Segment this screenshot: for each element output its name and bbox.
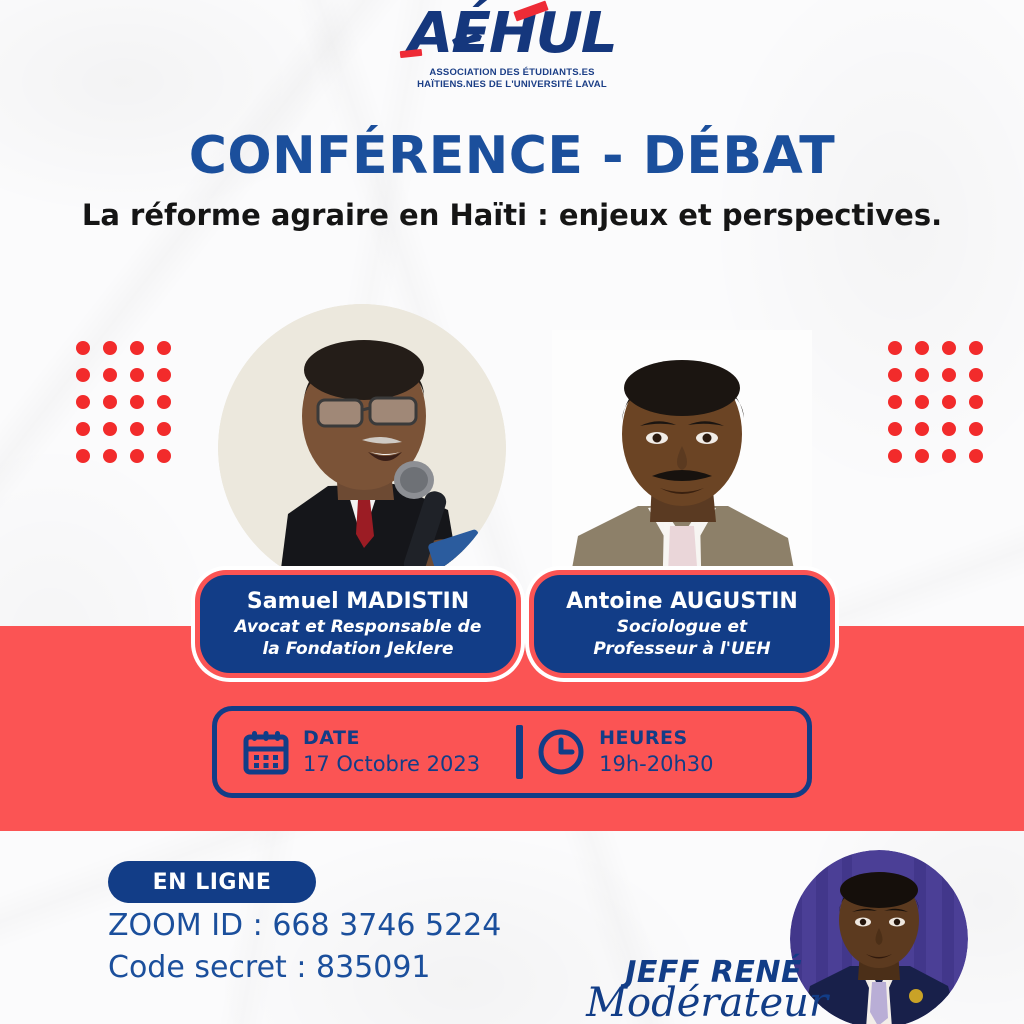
speaker-role-2-line2: Professeur à l'UEH xyxy=(593,638,770,660)
speaker-role-1-line2: la Fondation Jeklere xyxy=(262,638,453,660)
dot xyxy=(942,449,956,463)
date-cell: DATE 17 Octobre 2023 xyxy=(217,729,480,775)
dot xyxy=(942,368,956,382)
dot xyxy=(888,368,902,382)
time-value: 19h-20h30 xyxy=(599,754,713,775)
dot xyxy=(915,368,929,382)
dot-grid-right xyxy=(888,341,983,463)
logo-tagline: ASSOCIATION DES ÉTUDIANTS.ES HAÏTIENS.NE… xyxy=(417,67,607,90)
dot xyxy=(103,449,117,463)
moderator-role: Modérateur xyxy=(586,980,828,1024)
dot-grid-left xyxy=(76,341,171,463)
speaker-role-1-line1: Avocat et Responsable de xyxy=(235,616,482,638)
dot xyxy=(157,449,171,463)
dot xyxy=(76,422,90,436)
dot xyxy=(942,422,956,436)
dot xyxy=(888,422,902,436)
logo-wordmark: AÉHUL xyxy=(389,4,634,66)
logo-tagline-line1: ASSOCIATION DES ÉTUDIANTS.ES xyxy=(417,67,607,79)
dot xyxy=(76,449,90,463)
date-value: 17 Octobre 2023 xyxy=(303,754,480,775)
dot xyxy=(969,395,983,409)
logo-mark: AÉHUL xyxy=(394,4,630,66)
dot xyxy=(76,368,90,382)
page-title: CONFÉRENCE - DÉBAT xyxy=(0,126,1024,186)
date-label: DATE xyxy=(303,729,480,748)
speaker-card-1: Samuel MADISTIN Avocat et Responsable de… xyxy=(200,575,516,673)
dot xyxy=(76,341,90,355)
dot xyxy=(915,422,929,436)
dot xyxy=(130,341,144,355)
time-text: HEURES 19h-20h30 xyxy=(599,729,713,775)
dot xyxy=(157,341,171,355)
dot xyxy=(888,341,902,355)
speaker-role-2-line1: Sociologue et xyxy=(617,616,747,638)
dot xyxy=(103,341,117,355)
dot xyxy=(130,395,144,409)
zoom-id: ZOOM ID : 668 3746 5224 xyxy=(108,908,501,943)
dot xyxy=(76,395,90,409)
dot xyxy=(103,422,117,436)
aehul-logo: AÉHUL ASSOCIATION DES ÉTUDIANTS.ES HAÏTI… xyxy=(380,4,644,104)
online-badge: EN LIGNE xyxy=(108,861,316,903)
dot xyxy=(915,395,929,409)
time-label: HEURES xyxy=(599,729,713,748)
speaker-photo-2 xyxy=(552,330,812,612)
dot xyxy=(157,422,171,436)
dot xyxy=(969,368,983,382)
dot xyxy=(969,449,983,463)
time-cell: HEURES 19h-20h30 xyxy=(527,728,713,776)
speaker-name-2: Antoine AUGUSTIN xyxy=(566,588,798,616)
dot xyxy=(888,449,902,463)
speaker-card-2: Antoine AUGUSTIN Sociologue et Professeu… xyxy=(534,575,830,673)
dot xyxy=(969,341,983,355)
clock-icon xyxy=(537,728,585,776)
haiti-map-icon xyxy=(450,28,484,50)
dot xyxy=(157,368,171,382)
page-subtitle: La réforme agraire en Haïti : enjeux et … xyxy=(0,198,1024,232)
poster: AÉHUL ASSOCIATION DES ÉTUDIANTS.ES HAÏTI… xyxy=(0,0,1024,1024)
speaker-photo-1 xyxy=(218,304,506,592)
date-text: DATE 17 Octobre 2023 xyxy=(303,729,480,775)
zoom-passcode: Code secret : 835091 xyxy=(108,950,431,985)
speaker-name-1: Samuel MADISTIN xyxy=(247,588,469,616)
dot xyxy=(130,368,144,382)
dot xyxy=(915,341,929,355)
logo-tagline-line2: HAÏTIENS.NES DE L'UNIVERSITÉ LAVAL xyxy=(417,79,607,91)
info-divider xyxy=(516,725,523,779)
event-info-box: DATE 17 Octobre 2023 HEURES 19h-20h30 xyxy=(212,706,812,798)
dot xyxy=(103,395,117,409)
dot xyxy=(915,449,929,463)
dot xyxy=(157,395,171,409)
dot xyxy=(103,368,117,382)
dot xyxy=(942,395,956,409)
dot xyxy=(130,449,144,463)
dot xyxy=(130,422,144,436)
dot xyxy=(969,422,983,436)
calendar-icon xyxy=(243,729,289,775)
dot xyxy=(942,341,956,355)
dot xyxy=(888,395,902,409)
